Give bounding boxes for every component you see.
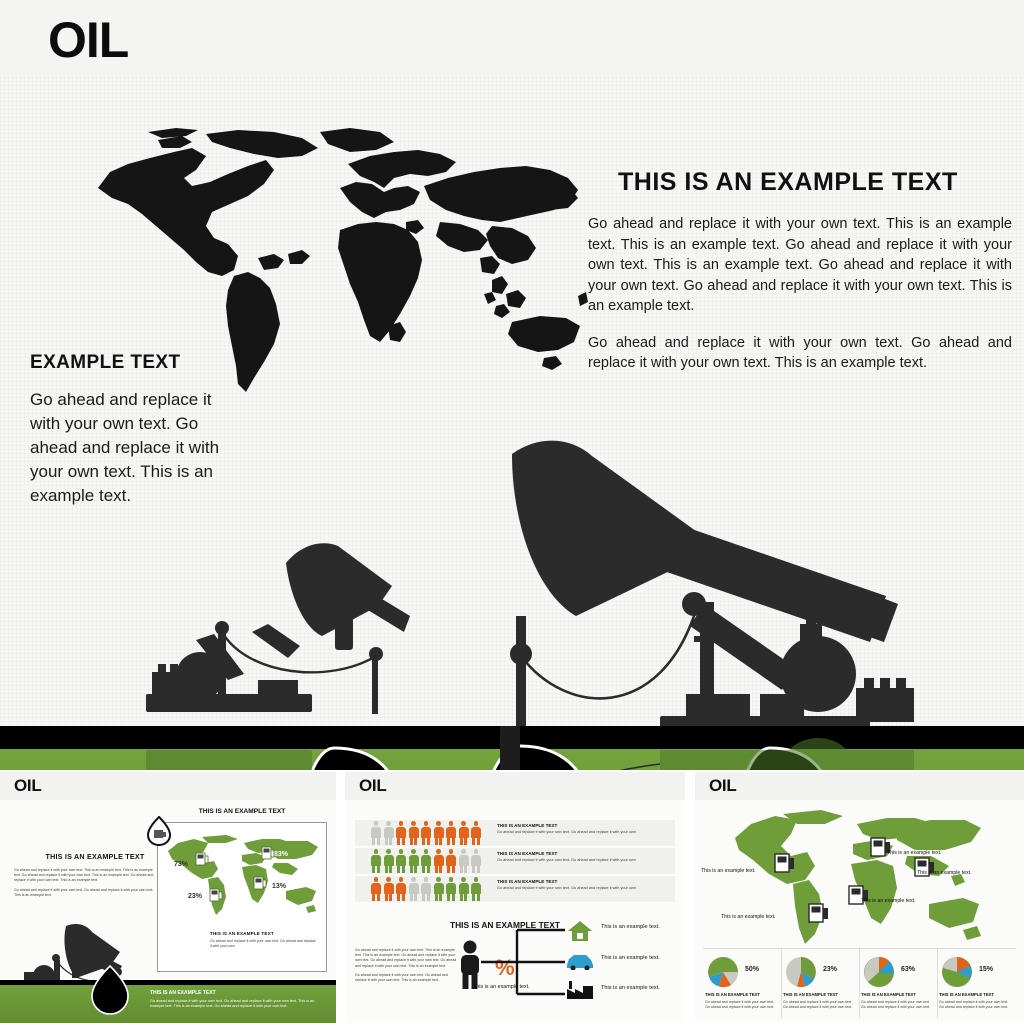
person-icon bbox=[471, 821, 481, 845]
thumb1-note-title: THIS IS AN EXAMPLE TEXT bbox=[210, 931, 316, 936]
person-icon bbox=[409, 821, 419, 845]
thumb1-paragraph-1: Go ahead and replace it with your own te… bbox=[14, 868, 156, 884]
pie-divider-1 bbox=[781, 948, 782, 1018]
person-icon bbox=[421, 877, 431, 901]
thumb3-title: OIL bbox=[709, 776, 736, 796]
pie-divider-2 bbox=[859, 948, 860, 1018]
pie-chart-4 bbox=[941, 956, 973, 988]
thumb2-paragraph-2: Go ahead and replace it with your own te… bbox=[355, 973, 460, 983]
thumb2-header bbox=[345, 772, 685, 800]
person-icon bbox=[457, 940, 483, 990]
pie-title-4: THIS IS AN EXAMPLE TEXT bbox=[939, 992, 994, 997]
branch-label-3: This is an example text. bbox=[601, 985, 660, 991]
person-icon bbox=[396, 877, 406, 901]
car-icon bbox=[565, 952, 595, 970]
person-icon bbox=[471, 877, 481, 901]
pie-text-2: Go ahead and replace it with your own te… bbox=[783, 1000, 853, 1010]
factory-icon bbox=[565, 980, 595, 1000]
pie-chart-1 bbox=[707, 956, 739, 988]
pie-title-1: THIS IS AN EXAMPLE TEXT bbox=[705, 992, 760, 997]
thumb3-pump-icons bbox=[719, 808, 1003, 948]
pie-percent-3: 63% bbox=[901, 966, 915, 973]
person-icon bbox=[446, 849, 456, 873]
thumb1-paragraph-2: Go ahead and replace it with your own te… bbox=[14, 888, 156, 898]
thumb1-footer: THIS IS AN EXAMPLE TEXT Go ahead and rep… bbox=[0, 980, 336, 1023]
person-icon bbox=[384, 877, 394, 901]
person-icon bbox=[421, 849, 431, 873]
thumb2-row3-text: Go ahead and replace it with your own te… bbox=[497, 886, 673, 891]
thumb1-title: OIL bbox=[14, 776, 41, 796]
person-icon bbox=[446, 821, 456, 845]
house-icon bbox=[567, 920, 593, 942]
pictogram-row-3 bbox=[371, 877, 481, 901]
thumb3-map-label-1: This is an example text. bbox=[701, 868, 756, 874]
green-band bbox=[0, 726, 1024, 770]
branch-label-2: This is an example text. bbox=[601, 955, 660, 961]
thumb2-title: OIL bbox=[359, 776, 386, 796]
pie-percent-1: 50% bbox=[745, 966, 759, 973]
thumb1-headline: THIS IS AN EXAMPLE TEXT bbox=[20, 852, 170, 861]
person-icon bbox=[371, 821, 381, 845]
person-icon bbox=[471, 849, 481, 873]
thumb2-row1-text: Go ahead and replace it with your own te… bbox=[497, 830, 673, 835]
page-header: OIL bbox=[0, 0, 1024, 76]
pie-text-4: Go ahead and replace it with your own te… bbox=[939, 1000, 1009, 1010]
person-icon bbox=[384, 821, 394, 845]
pictogram-row-1 bbox=[371, 821, 481, 845]
person-icon bbox=[459, 877, 469, 901]
pie-chart-group: 50% THIS IS AN EXAMPLE TEXT Go ahead and… bbox=[703, 952, 1016, 1018]
person-icon bbox=[396, 821, 406, 845]
person-icon bbox=[434, 821, 444, 845]
pie-title-3: THIS IS AN EXAMPLE TEXT bbox=[861, 992, 916, 997]
thumbnail-slide-2[interactable]: OIL THIS IS AN EXAMPLE TEXT Go ahead and… bbox=[345, 772, 685, 1023]
thumb2-row2-text: Go ahead and replace it with your own te… bbox=[497, 858, 673, 863]
pie-divider-3 bbox=[937, 948, 938, 1018]
thumb1-card-title: THIS IS AN EXAMPLE TEXT bbox=[157, 808, 327, 815]
person-icon bbox=[409, 849, 419, 873]
pictogram-row-2 bbox=[371, 849, 481, 873]
person-icon bbox=[384, 849, 394, 873]
person-icon bbox=[371, 849, 381, 873]
thumb3-map-label-5: This is an example text. bbox=[861, 898, 916, 904]
thumb2-row3-title: THIS IS AN EXAMPLE TEXT bbox=[497, 879, 557, 884]
pie-title-2: THIS IS AN EXAMPLE TEXT bbox=[783, 992, 838, 997]
pie-chart-3 bbox=[863, 956, 895, 988]
pie-text-1: Go ahead and replace it with your own te… bbox=[705, 1000, 775, 1010]
infographic-page: OIL bbox=[0, 0, 1024, 1023]
thumb3-map-label-3: This is an example text. bbox=[887, 850, 942, 856]
person-icon bbox=[446, 877, 456, 901]
thumb2-row1-title: THIS IS AN EXAMPLE TEXT bbox=[497, 823, 557, 828]
thumb1-footer-text: Go ahead and replace it with your own te… bbox=[150, 999, 326, 1010]
oil-drops bbox=[0, 726, 1024, 770]
person-icon bbox=[459, 849, 469, 873]
page-title: OIL bbox=[48, 14, 128, 66]
pie-percent-2: 23% bbox=[823, 966, 837, 973]
thumb1-paragraphs: Go ahead and replace it with your own te… bbox=[14, 868, 156, 898]
thumb3-header bbox=[695, 772, 1024, 800]
main-stage: THIS IS AN EXAMPLE TEXT Go ahead and rep… bbox=[0, 76, 1024, 770]
oil-drop-icon bbox=[146, 816, 172, 846]
branch-label-1: This is an example text. bbox=[601, 924, 660, 930]
pie-text-3: Go ahead and replace it with your own te… bbox=[861, 1000, 931, 1010]
thumb2-row2-title: THIS IS AN EXAMPLE TEXT bbox=[497, 851, 557, 856]
person-icon bbox=[421, 821, 431, 845]
thumbnail-strip: OIL THIS IS AN EXAMPLE TEXT Go ahead and… bbox=[0, 772, 1024, 1023]
person-icon bbox=[396, 849, 406, 873]
person-icon bbox=[409, 877, 419, 901]
thumb1-note-text: Go ahead and replace it with your own te… bbox=[210, 939, 316, 949]
thumb2-paragraphs: Go ahead and replace it with your own te… bbox=[355, 948, 460, 983]
thumb3-map-label-2: This is an example text. bbox=[721, 914, 776, 920]
person-icon bbox=[434, 877, 444, 901]
thumb1-footer-drop bbox=[80, 960, 140, 1020]
pie-percent-4: 15% bbox=[979, 966, 993, 973]
thumb1-map-card: 73% 83% 13% 23% bbox=[157, 822, 327, 972]
thumb3-map-label-4: This is an example text. bbox=[917, 870, 972, 876]
thumb1-footer-strip bbox=[0, 980, 336, 985]
thumbnail-slide-1[interactable]: OIL THIS IS AN EXAMPLE TEXT Go ahead and… bbox=[0, 772, 336, 1023]
thumb1-pump-icons bbox=[158, 823, 328, 973]
person-icon bbox=[371, 877, 381, 901]
pumpjack-small bbox=[146, 543, 410, 714]
person-icon bbox=[459, 821, 469, 845]
thumb1-footer-title: THIS IS AN EXAMPLE TEXT bbox=[150, 990, 216, 996]
pumpjack-large bbox=[510, 441, 914, 752]
person-icon bbox=[434, 849, 444, 873]
thumb1-note: THIS IS AN EXAMPLE TEXT Go ahead and rep… bbox=[210, 931, 316, 949]
thumb2-paragraph-1: Go ahead and replace it with your own te… bbox=[355, 948, 460, 969]
thumb1-header bbox=[0, 772, 336, 800]
pumpjack-group bbox=[0, 76, 1024, 770]
pie-chart-2 bbox=[785, 956, 817, 988]
thumbnail-slide-3[interactable]: OIL bbox=[695, 772, 1024, 1023]
